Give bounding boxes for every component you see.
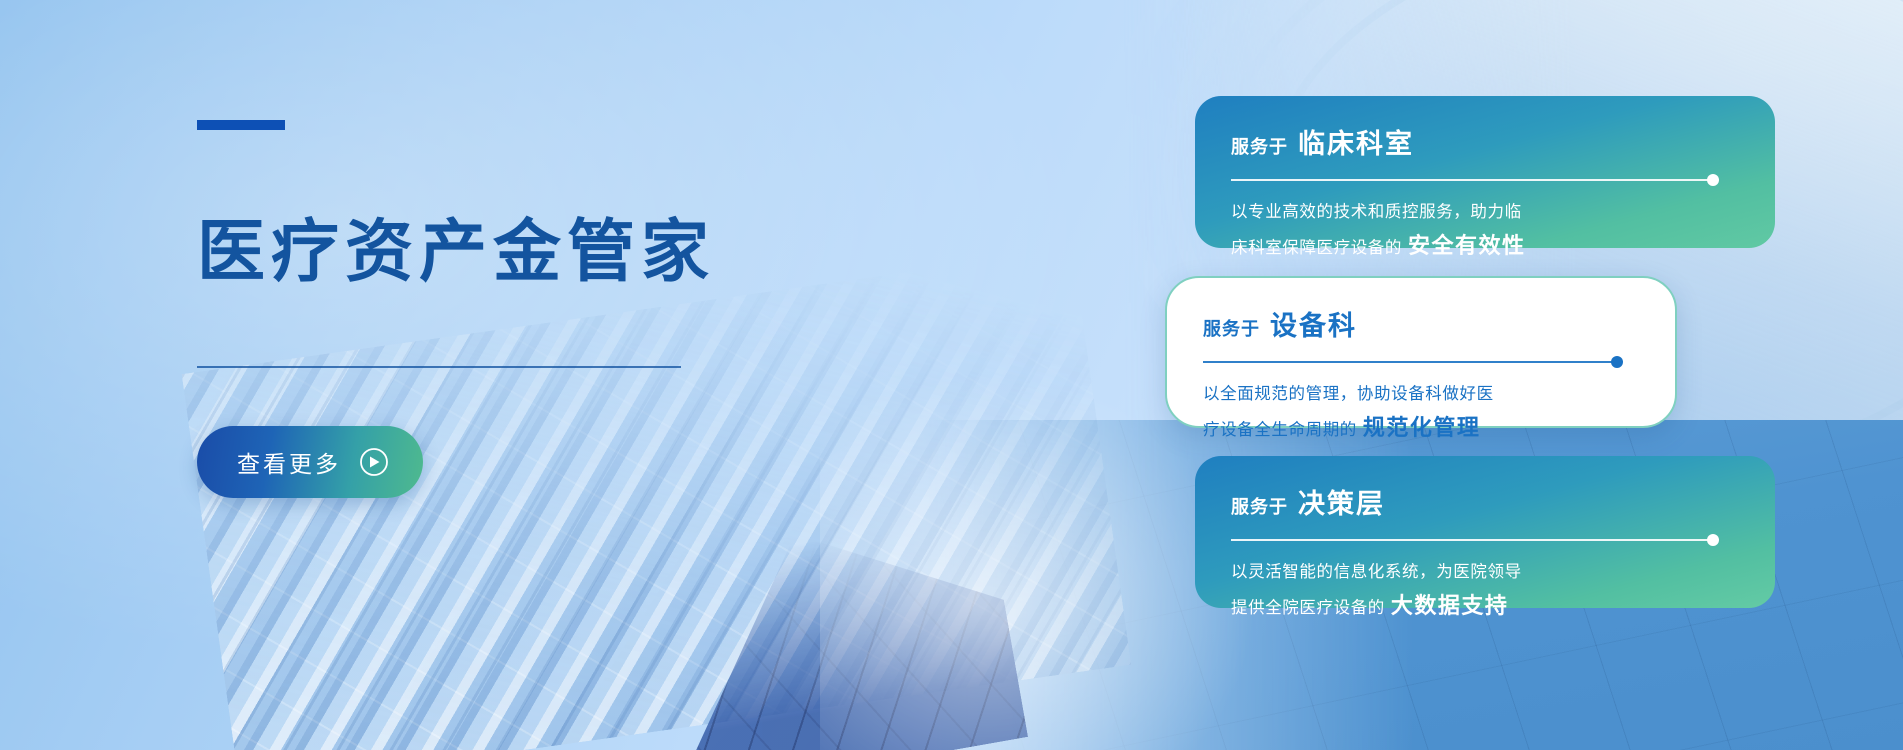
card-prefix: 服务于 [1231, 493, 1288, 519]
service-card-clinical[interactable]: 服务于 临床科室 以专业高效的技术和质控服务，助力临 床科室保障医疗设备的安全有… [1195, 96, 1775, 248]
service-card-decision[interactable]: 服务于 决策层 以灵活智能的信息化系统，为医院领导 提供全院医疗设备的大数据支持 [1195, 456, 1775, 608]
card-body-line-2-text: 床科室保障医疗设备的 [1231, 239, 1402, 257]
page-title: 医疗资产金管家 [197, 218, 897, 286]
card-subject: 设备科 [1270, 304, 1357, 343]
card-body-line-2: 疗设备全生命周期的规范化管理 [1203, 409, 1641, 448]
card-rule [1231, 174, 1741, 186]
card-rule-line [1231, 539, 1711, 541]
hero-left-column: 医疗资产金管家 查看更多 [197, 120, 897, 498]
card-heading: 服务于 决策层 [1231, 482, 1741, 521]
card-prefix: 服务于 [1231, 133, 1288, 159]
service-card-list: 服务于 临床科室 以专业高效的技术和质控服务，助力临 床科室保障医疗设备的安全有… [1165, 96, 1805, 608]
card-body-emphasis: 安全有效性 [1408, 233, 1526, 258]
card-rule-line [1231, 179, 1711, 181]
accent-dash [197, 120, 285, 130]
card-body-emphasis: 大数据支持 [1391, 593, 1509, 618]
card-rule [1231, 534, 1741, 546]
card-body-line-2: 提供全院医疗设备的大数据支持 [1231, 587, 1741, 626]
card-body: 以全面规范的管理，协助设备科做好医 疗设备全生命周期的规范化管理 [1203, 380, 1641, 447]
card-body-line-1: 以专业高效的技术和质控服务，助力临 [1231, 198, 1741, 227]
card-subject: 临床科室 [1298, 122, 1414, 161]
arrow-right-circle-icon [359, 447, 389, 477]
title-divider [197, 366, 681, 368]
card-body: 以灵活智能的信息化系统，为医院领导 提供全院医疗设备的大数据支持 [1231, 558, 1741, 625]
card-body-line-1: 以全面规范的管理，协助设备科做好医 [1203, 380, 1641, 409]
view-more-label: 查看更多 [237, 445, 341, 479]
card-rule-dot [1611, 356, 1623, 368]
card-heading: 服务于 临床科室 [1231, 122, 1741, 161]
card-rule [1203, 356, 1641, 368]
card-heading: 服务于 设备科 [1203, 304, 1641, 343]
card-rule-dot [1707, 174, 1719, 186]
card-rule-dot [1707, 534, 1719, 546]
card-body: 以专业高效的技术和质控服务，助力临 床科室保障医疗设备的安全有效性 [1231, 198, 1741, 265]
card-body-line-2-text: 疗设备全生命周期的 [1203, 421, 1357, 439]
card-body-line-1: 以灵活智能的信息化系统，为医院领导 [1231, 558, 1741, 587]
hero-banner: 医疗资产金管家 查看更多 服务于 临床科室 以专业高效的技术 [0, 0, 1903, 750]
card-rule-line [1203, 361, 1615, 363]
card-prefix: 服务于 [1203, 315, 1260, 341]
card-body-line-2-text: 提供全院医疗设备的 [1231, 599, 1385, 617]
view-more-button[interactable]: 查看更多 [197, 426, 423, 498]
service-card-equipment[interactable]: 服务于 设备科 以全面规范的管理，协助设备科做好医 疗设备全生命周期的规范化管理 [1165, 276, 1677, 428]
card-subject: 决策层 [1298, 482, 1385, 521]
card-body-emphasis: 规范化管理 [1363, 415, 1481, 440]
card-body-line-2: 床科室保障医疗设备的安全有效性 [1231, 227, 1741, 266]
